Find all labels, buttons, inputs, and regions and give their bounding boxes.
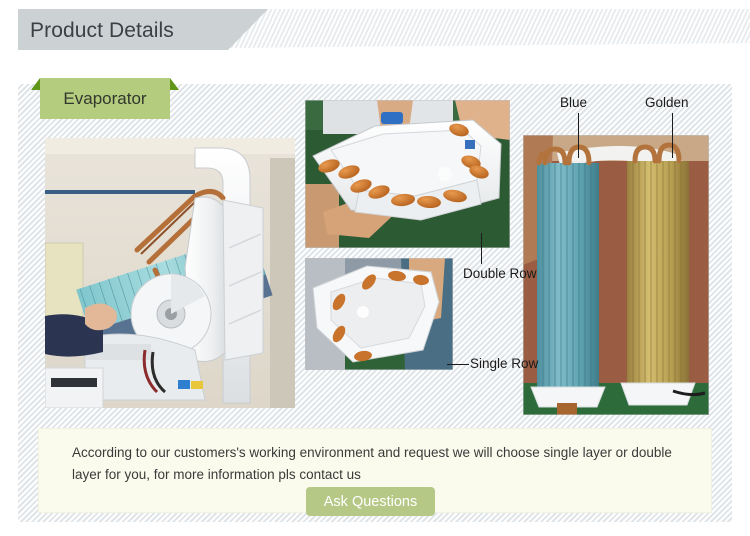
callout-label-single-row: Single Row <box>470 356 538 371</box>
leader-line-double-row <box>481 233 482 264</box>
leader-line-single-row <box>447 364 469 365</box>
tab-fold-right-icon <box>170 78 179 90</box>
note-text: According to our customers's working env… <box>72 442 687 486</box>
page-title: Product Details <box>30 19 174 43</box>
ask-questions-button[interactable]: Ask Questions <box>306 487 435 516</box>
coil-color-comparison-photo <box>523 135 709 415</box>
callout-label-golden: Golden <box>645 95 689 110</box>
single-row-tray-photo <box>305 258 453 370</box>
leader-line-golden <box>672 113 673 158</box>
tab-fold-left-icon <box>31 78 40 90</box>
section-tab-evaporator[interactable]: Evaporator <box>40 73 170 119</box>
single-row-tray-illustration <box>305 258 453 370</box>
evaporator-unit-illustration <box>45 138 295 408</box>
section-tab-label: Evaporator <box>40 78 170 119</box>
product-details-page: Product Details Evaporator <box>0 0 750 536</box>
callout-label-double-row: Double Row <box>463 266 537 281</box>
double-row-tray-photo <box>305 100 510 248</box>
information-note-box: According to our customers's working env… <box>38 428 712 513</box>
leader-line-blue <box>578 113 579 158</box>
evaporator-unit-photo <box>45 138 295 408</box>
coil-comparison-illustration <box>523 135 709 415</box>
double-row-tray-illustration <box>305 100 510 248</box>
callout-label-blue: Blue <box>560 95 587 110</box>
page-header: Product Details <box>0 9 750 50</box>
